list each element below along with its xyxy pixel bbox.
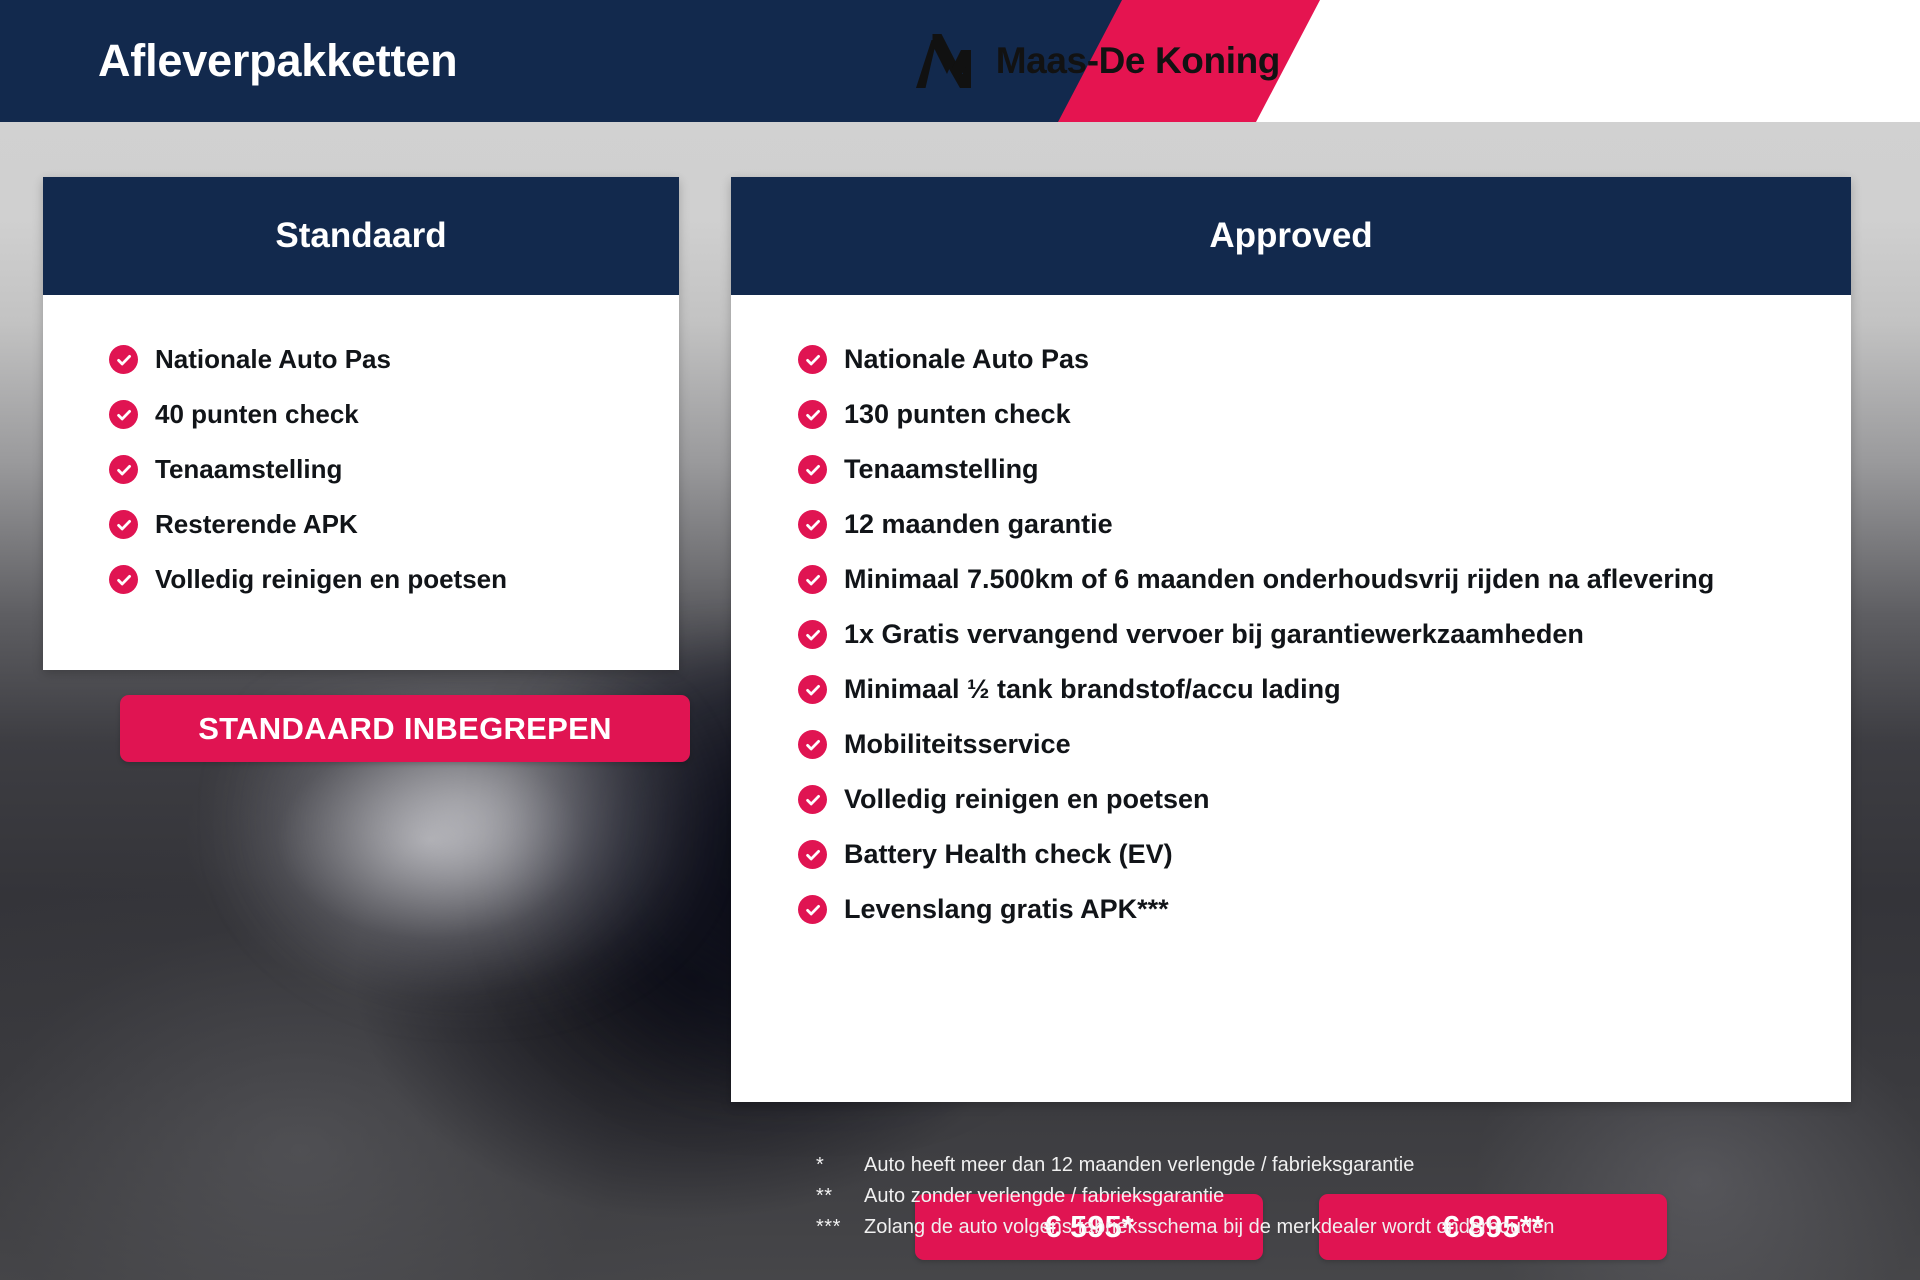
feature-label: 12 maanden garantie xyxy=(844,502,1113,546)
footnote-text: Auto heeft meer dan 12 maanden verlengde… xyxy=(864,1150,1414,1181)
check-circle-icon xyxy=(798,345,827,374)
package-card-standaard: Standaard Nationale Auto Pas40 punten ch… xyxy=(43,177,679,670)
feature-item: Nationale Auto Pas xyxy=(798,337,1851,381)
feature-item: Volledig reinigen en poetsen xyxy=(798,777,1851,821)
footnote-marker: *** xyxy=(816,1212,864,1243)
check-circle-icon xyxy=(798,400,827,429)
feature-list-standaard: Nationale Auto Pas40 punten checkTenaams… xyxy=(109,337,679,601)
check-circle-icon xyxy=(798,620,827,649)
feature-label: Volledig reinigen en poetsen xyxy=(155,557,507,601)
package-card-approved: Approved Nationale Auto Pas130 punten ch… xyxy=(731,177,1851,1102)
feature-item: Tenaamstelling xyxy=(109,447,679,491)
feature-item: Nationale Auto Pas xyxy=(109,337,679,381)
card-title-approved: Approved xyxy=(731,177,1851,295)
check-circle-icon xyxy=(798,785,827,814)
check-circle-icon xyxy=(798,730,827,759)
header-bar: Afleverpakketten Maas-De Koning xyxy=(0,0,1920,122)
feature-item: 40 punten check xyxy=(109,392,679,436)
footnote-text: Auto zonder verlengde / fabrieksgarantie xyxy=(864,1181,1224,1212)
feature-label: Battery Health check (EV) xyxy=(844,832,1173,876)
feature-label: Levenslang gratis APK*** xyxy=(844,887,1169,931)
standaard-included-button[interactable]: STANDAARD INBEGREPEN xyxy=(120,695,690,762)
feature-item: Battery Health check (EV) xyxy=(798,832,1851,876)
check-circle-icon xyxy=(798,510,827,539)
feature-label: Nationale Auto Pas xyxy=(155,337,391,381)
feature-item: 1x Gratis vervangend vervoer bij garanti… xyxy=(798,612,1851,656)
feature-item: Mobiliteitsservice xyxy=(798,722,1851,766)
feature-label: Tenaamstelling xyxy=(844,447,1039,491)
brand-logo: Maas-De Koning xyxy=(916,0,1280,122)
footnote-list: *Auto heeft meer dan 12 maanden verlengd… xyxy=(816,1150,1554,1243)
feature-item: Tenaamstelling xyxy=(798,447,1851,491)
check-circle-icon xyxy=(798,840,827,869)
check-circle-icon xyxy=(109,565,138,594)
footnote-marker: * xyxy=(816,1150,864,1181)
feature-item: Resterende APK xyxy=(109,502,679,546)
card-body-standaard: Nationale Auto Pas40 punten checkTenaams… xyxy=(43,295,679,670)
brand-name-label: Maas-De Koning xyxy=(996,40,1280,82)
poster-root: Afleverpakketten Maas-De Koning Standaar… xyxy=(0,0,1920,1280)
check-circle-icon xyxy=(109,510,138,539)
card-body-approved: Nationale Auto Pas130 punten checkTenaam… xyxy=(731,295,1851,1102)
footnote-item: *Auto heeft meer dan 12 maanden verlengd… xyxy=(816,1150,1554,1181)
footnote-item: **Auto zonder verlengde / fabrieksgarant… xyxy=(816,1181,1554,1212)
feature-label: Tenaamstelling xyxy=(155,447,342,491)
feature-label: 1x Gratis vervangend vervoer bij garanti… xyxy=(844,612,1584,656)
feature-label: Minimaal ½ tank brandstof/accu lading xyxy=(844,667,1341,711)
check-circle-icon xyxy=(109,400,138,429)
footnote-marker: ** xyxy=(816,1181,864,1212)
feature-item: 130 punten check xyxy=(798,392,1851,436)
feature-list-approved: Nationale Auto Pas130 punten checkTenaam… xyxy=(798,337,1851,931)
feature-label: 130 punten check xyxy=(844,392,1071,436)
feature-label: Resterende APK xyxy=(155,502,358,546)
check-circle-icon xyxy=(798,565,827,594)
check-circle-icon xyxy=(109,455,138,484)
footnote-item: ***Zolang de auto volgens fabrieksschema… xyxy=(816,1212,1554,1243)
feature-item: 12 maanden garantie xyxy=(798,502,1851,546)
check-circle-icon xyxy=(798,455,827,484)
check-circle-icon xyxy=(798,675,827,704)
feature-label: Minimaal 7.500km of 6 maanden onderhouds… xyxy=(844,557,1714,601)
card-title-standaard: Standaard xyxy=(43,177,679,295)
maas-de-koning-logo-icon xyxy=(916,34,978,88)
footnote-text: Zolang de auto volgens fabrieksschema bi… xyxy=(864,1212,1554,1243)
feature-item: Minimaal 7.500km of 6 maanden onderhouds… xyxy=(798,557,1851,601)
page-title: Afleverpakketten xyxy=(98,0,457,122)
feature-label: Mobiliteitsservice xyxy=(844,722,1071,766)
feature-item: Levenslang gratis APK*** xyxy=(798,887,1851,931)
feature-item: Minimaal ½ tank brandstof/accu lading xyxy=(798,667,1851,711)
feature-label: Nationale Auto Pas xyxy=(844,337,1089,381)
check-circle-icon xyxy=(109,345,138,374)
feature-label: Volledig reinigen en poetsen xyxy=(844,777,1210,821)
feature-item: Volledig reinigen en poetsen xyxy=(109,557,679,601)
feature-label: 40 punten check xyxy=(155,392,359,436)
check-circle-icon xyxy=(798,895,827,924)
